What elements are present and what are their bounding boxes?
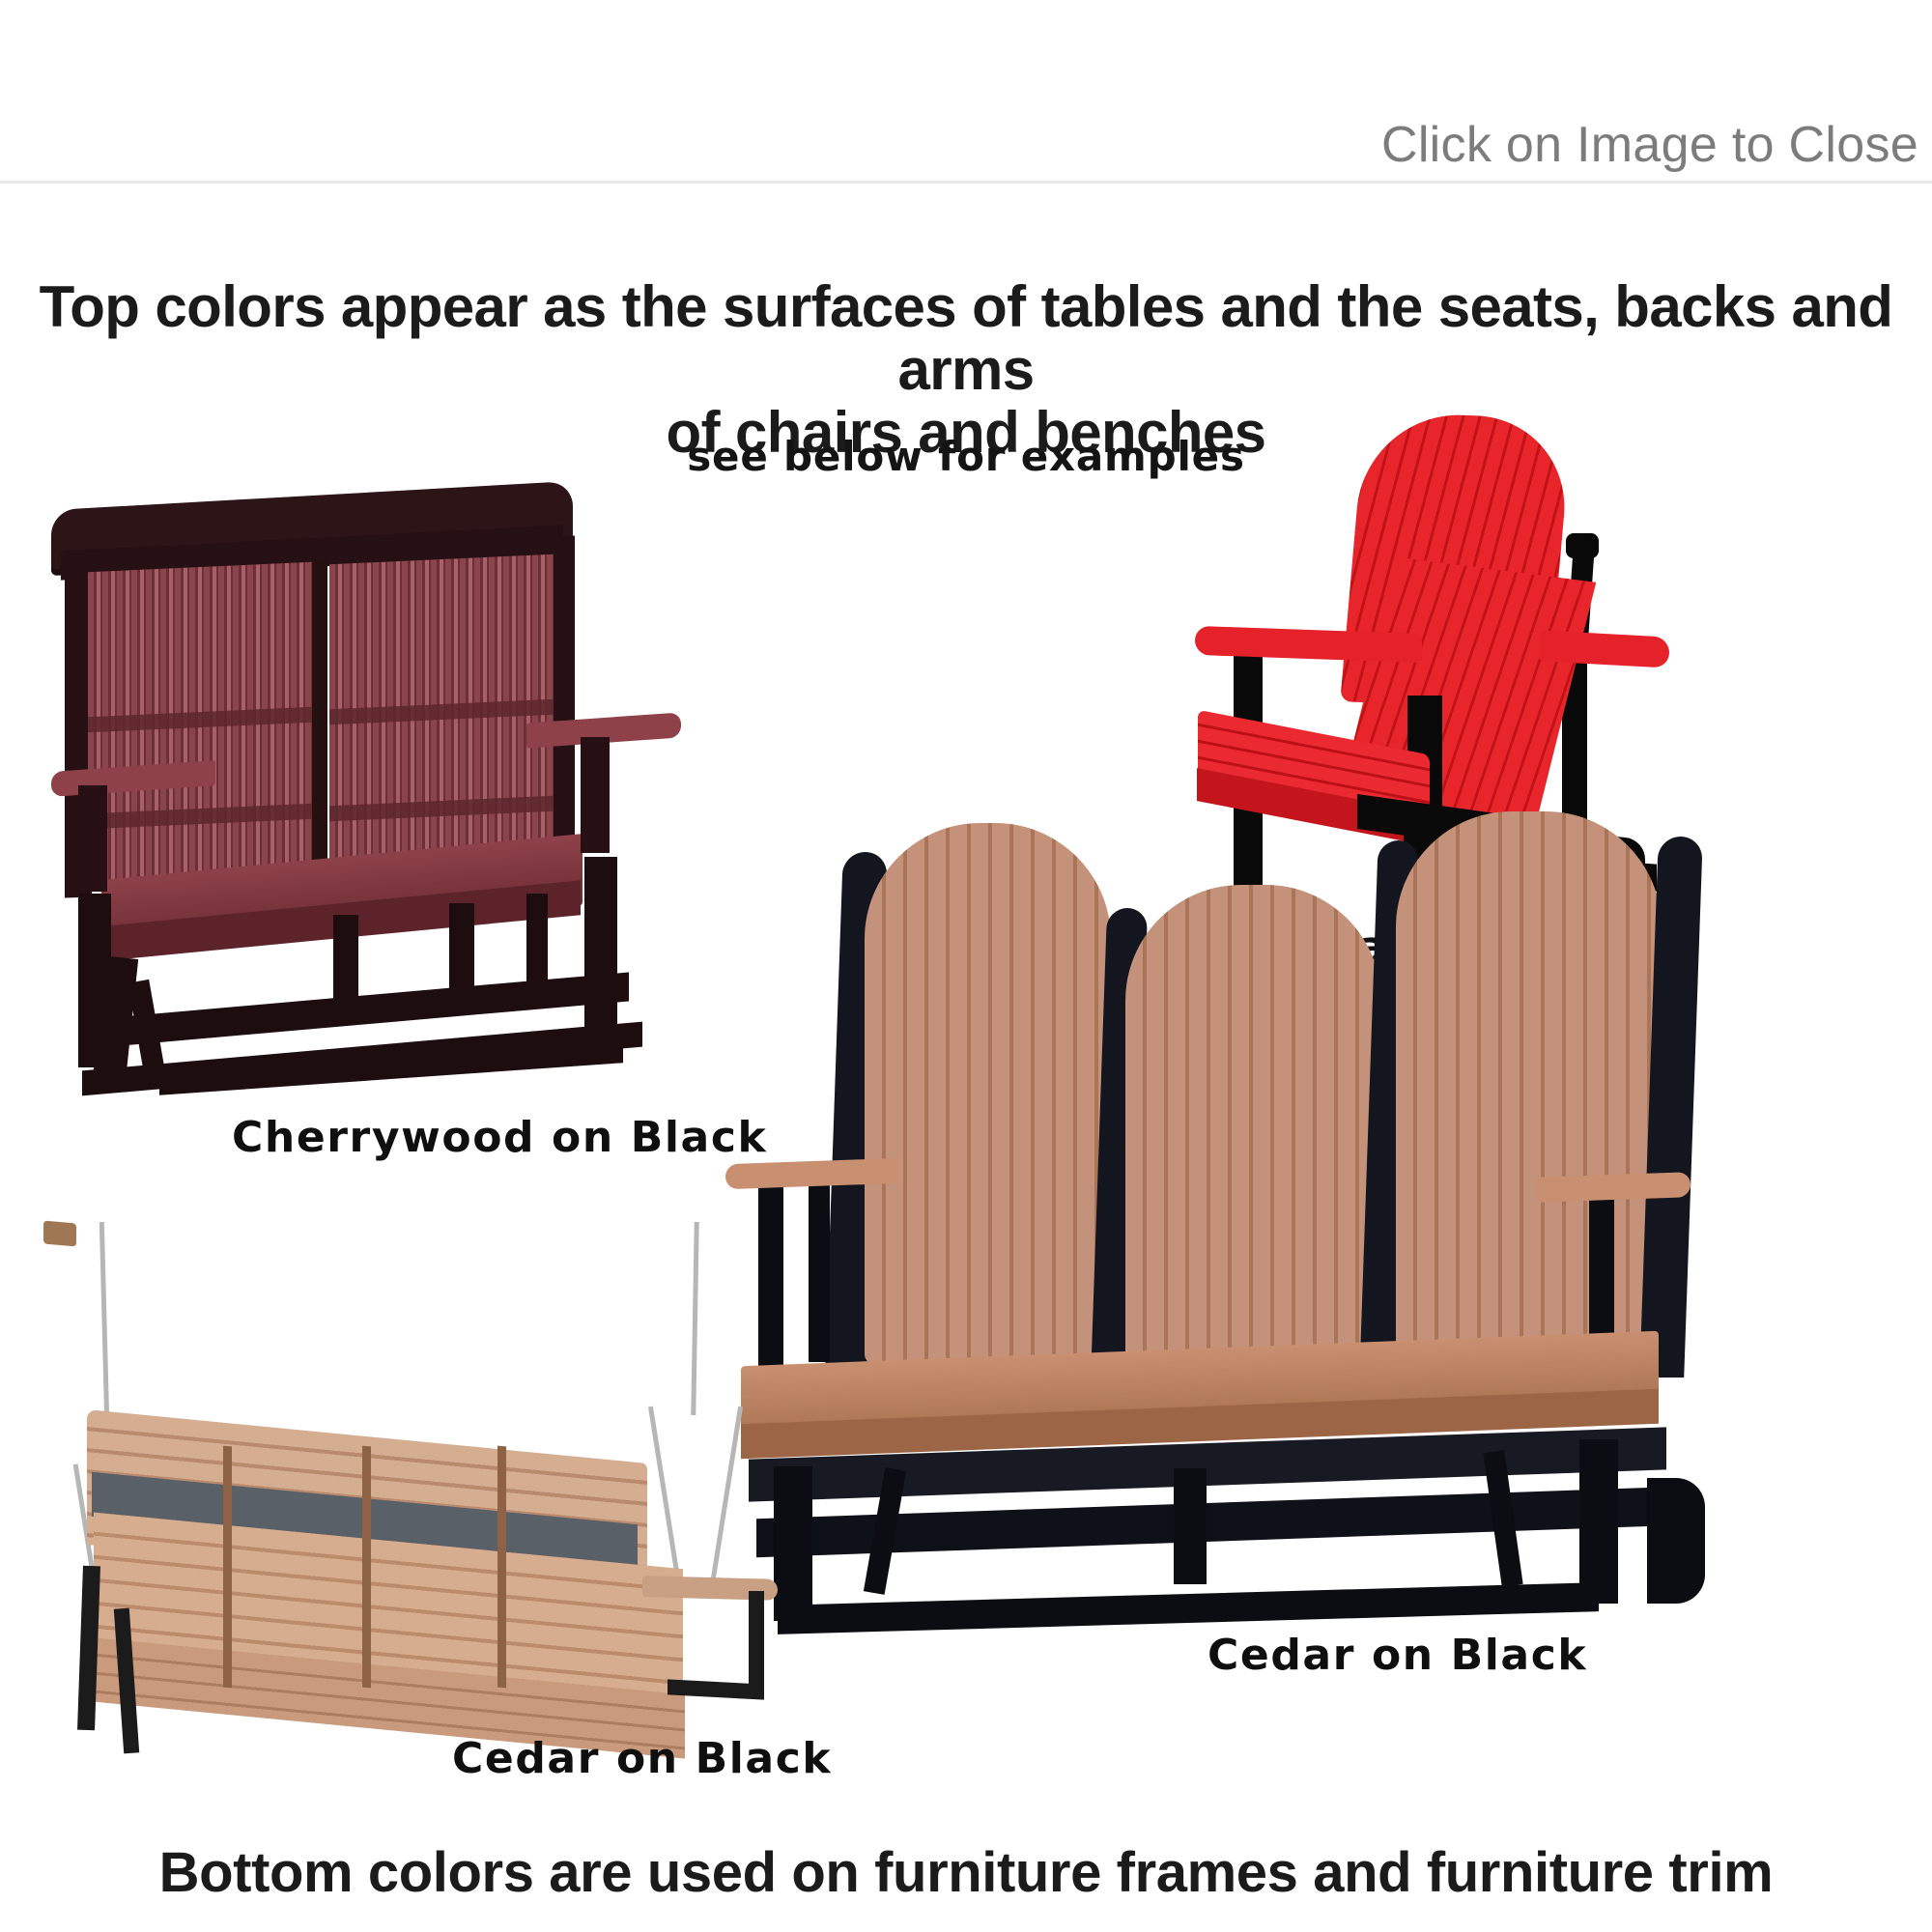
cedar-glider-back-panel-2 [1125,885,1381,1387]
swing-left-end-cap [43,1221,76,1247]
swing-back-vertical-3 [497,1446,506,1689]
cedar-glider-back-panel-3 [1396,811,1662,1372]
chair-back-knob [1566,533,1599,558]
glider-center-post [312,561,327,891]
cedar-glider-right-leg [1579,1439,1618,1604]
page-footer-note: Bottom colors are used on furniture fram… [0,1840,1932,1905]
swing-back-vertical-1 [223,1446,232,1689]
glider-left-arm-support [78,785,107,892]
product-image-cedar-triple-glider[interactable] [720,802,1835,1642]
swing-back-vertical-2 [362,1446,371,1689]
top-bar: Click on Image to Close [0,0,1932,184]
cedar-glider-foot-rail [778,1582,1599,1634]
product-image-cherrywood-glider[interactable] [43,478,720,1096]
cedar-glider-center-leg [1174,1468,1207,1584]
cedar-glider-rocker [1647,1478,1705,1604]
cedar-glider-back-panel-1 [865,823,1111,1364]
product-image-cedar-porch-swing[interactable] [43,1222,845,1744]
swing-chain-right-branch-a [648,1406,680,1579]
caption-cherrywood-on-black: Cherrywood on Black [232,1113,767,1162]
swing-chain-right-branch-b [711,1406,743,1579]
page-title-line-1: Top colors appear as the surfaces of tab… [0,276,1932,402]
swing-chain-right [691,1222,698,1415]
close-hint-label[interactable]: Click on Image to Close [1381,116,1918,174]
caption-cedar-on-black-swing: Cedar on Black [452,1734,832,1783]
glider-back-panel-right [329,554,554,884]
glider-right-arm-support [581,737,610,853]
swing-left-side-frame-1 [77,1566,100,1731]
swing-arm-post [749,1591,764,1697]
glider-back-panel-left [88,562,312,892]
caption-cedar-on-black-glider: Cedar on Black [1207,1631,1587,1680]
